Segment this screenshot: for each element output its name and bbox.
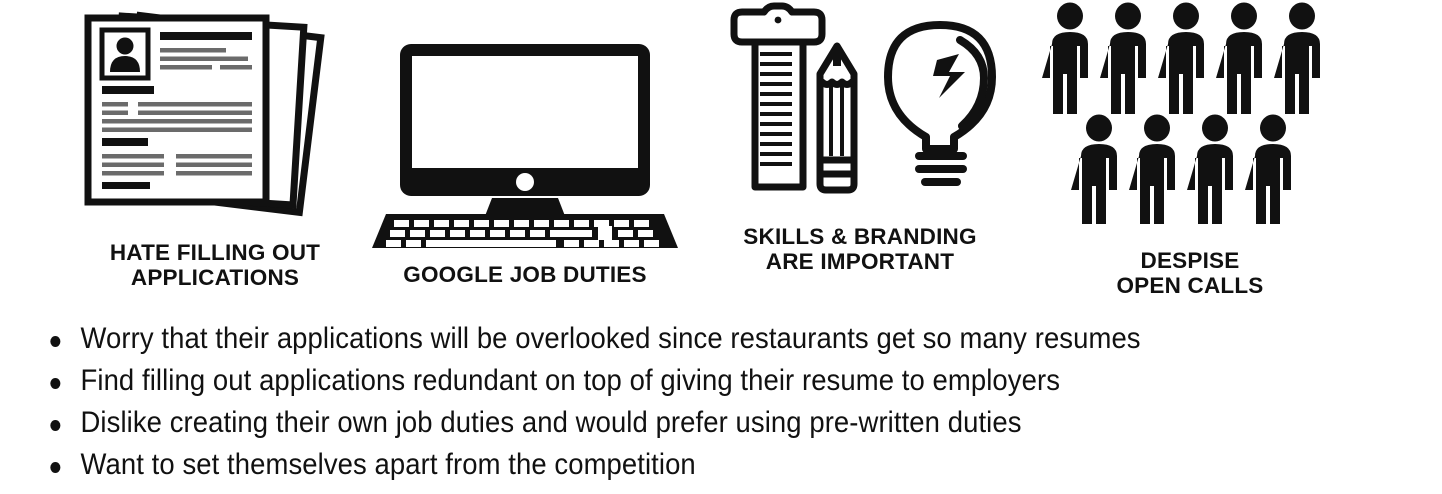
desktop-monitor-keyboard-icon: [368, 38, 682, 256]
list-item: Want to set themselves apart from the co…: [0, 444, 1319, 486]
icon-caption-job-duties: GOOGLE JOB DUTIES: [368, 262, 682, 287]
icon-caption-applications: HATE FILLING OUT APPLICATIONS: [70, 240, 360, 290]
icon-row: HATE FILLING OUT APPLICATIONS: [0, 0, 1442, 312]
icon-cell-open-calls: DESPISE OPEN CALLS: [1030, 0, 1350, 312]
ruler-pencil-lightbulb-icon: [712, 2, 1008, 210]
icon-caption-skills: SKILLS & BRANDING ARE IMPORTANT: [712, 224, 1008, 274]
pain-points-bullet-list: Worry that their applications will be ov…: [0, 318, 1442, 486]
stacked-resume-documents-icon: [70, 8, 360, 233]
icon-caption-open-calls: DESPISE OPEN CALLS: [1030, 248, 1350, 298]
jobseeker-pain-points-infographic: HATE FILLING OUT APPLICATIONS: [0, 0, 1442, 494]
list-item: Worry that their applications will be ov…: [0, 318, 1319, 360]
list-item: Find filling out applications redundant …: [0, 360, 1319, 402]
icon-cell-job-duties: GOOGLE JOB DUTIES: [368, 0, 682, 312]
icon-cell-applications: HATE FILLING OUT APPLICATIONS: [70, 0, 360, 312]
group-of-people-icon: [1030, 2, 1350, 224]
list-item: Dislike creating their own job duties an…: [0, 402, 1319, 444]
icon-cell-skills: SKILLS & BRANDING ARE IMPORTANT: [712, 0, 1008, 312]
